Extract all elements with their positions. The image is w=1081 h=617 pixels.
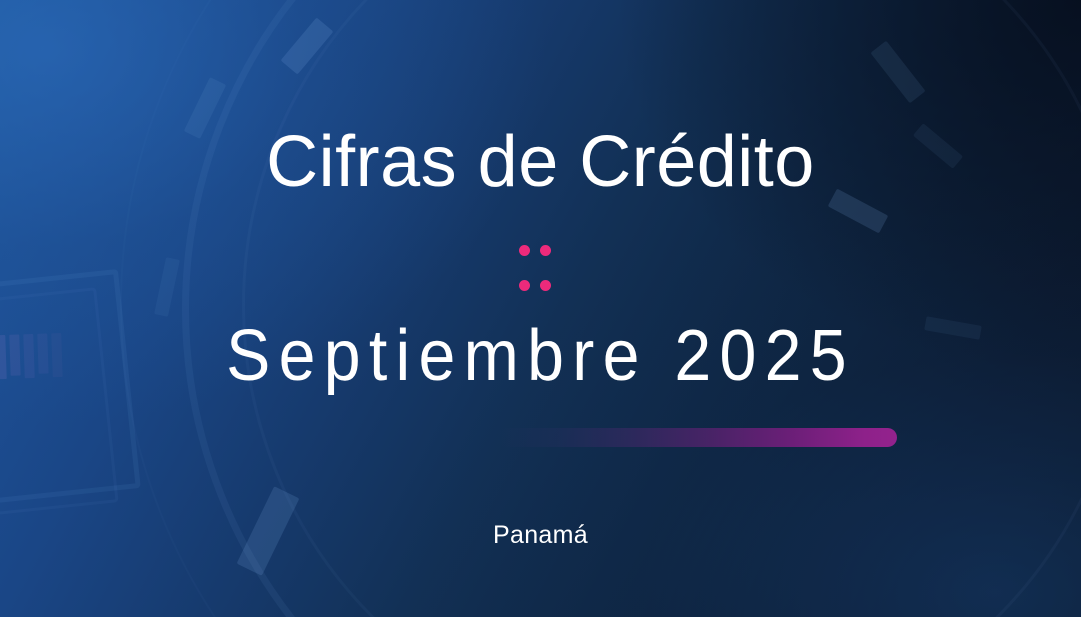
- dot-icon: [540, 280, 551, 291]
- decorative-dot-grid: [519, 245, 551, 295]
- slide-subtitle-country: Panamá: [0, 521, 1081, 550]
- dot-icon: [519, 245, 530, 256]
- slide-title: Cifras de Crédito: [0, 126, 1081, 198]
- slide-content: Cifras de Crédito Septiembre 2025 Panamá: [0, 0, 1081, 617]
- title-slide: Cifras de Crédito Septiembre 2025 Panamá: [0, 0, 1081, 617]
- accent-gradient-bar: [497, 428, 897, 447]
- dot-icon: [540, 245, 551, 256]
- slide-headline-date: Septiembre 2025: [43, 320, 1038, 392]
- dot-icon: [519, 280, 530, 291]
